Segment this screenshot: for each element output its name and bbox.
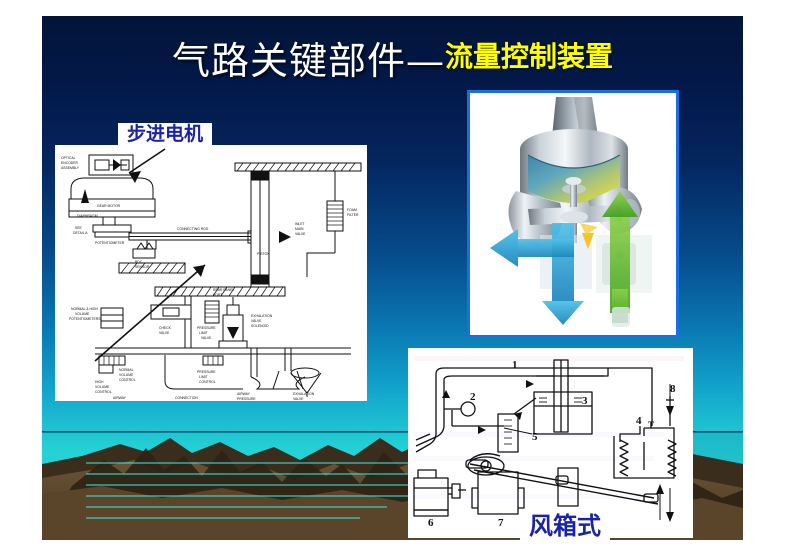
pump-render-svg — [470, 93, 676, 335]
svg-text:SEE: SEE — [75, 226, 83, 230]
bellows-schematic-svg: 1 2 3 4 5 6 7 8 T — [408, 348, 693, 538]
svg-text:CONNECTION: CONNECTION — [175, 396, 198, 400]
svg-text:VOLUME: VOLUME — [95, 385, 110, 389]
svg-text:SOLENOID: SOLENOID — [251, 324, 269, 328]
svg-text:6: 6 — [428, 517, 434, 529]
presentation-slide: 气路关键部件—流量控制装置 — [42, 16, 743, 540]
bellows-schematic-image[interactable]: 1 2 3 4 5 6 7 8 T — [408, 348, 693, 538]
svg-text:CONTROL: CONTROL — [199, 380, 216, 384]
svg-text:HIGH: HIGH — [95, 380, 104, 384]
svg-text:EXHALATION: EXHALATION — [293, 392, 315, 396]
svg-text:VOLUME: VOLUME — [119, 373, 134, 377]
svg-text:DIAPHRAGM: DIAPHRAGM — [77, 214, 98, 218]
svg-text:POTENTIOMETERS: POTENTIOMETERS — [69, 317, 101, 321]
stepper-schematic-svg: OPTICAL ENCODER ASSEMBLY GEAR MOTOR DIAP… — [55, 145, 367, 401]
title-accent-text: 流量控制装置 — [445, 40, 613, 73]
svg-text:VALVE: VALVE — [159, 331, 170, 335]
svg-text:VALVE: VALVE — [201, 336, 212, 340]
svg-text:FOAM: FOAM — [347, 208, 357, 212]
svg-text:REAR PANEL: REAR PANEL — [213, 288, 234, 292]
svg-text:2: 2 — [470, 391, 476, 403]
svg-text:CONTROL: CONTROL — [95, 390, 112, 394]
svg-text:AIRWAY: AIRWAY — [237, 392, 251, 396]
svg-text:PRESSURE: PRESSURE — [197, 326, 216, 330]
svg-text:VALVE: VALVE — [293, 397, 304, 401]
svg-text:VALVE: VALVE — [251, 319, 262, 323]
svg-text:OPTICAL: OPTICAL — [61, 156, 76, 160]
label-stepper-motor: 步进电机 — [118, 123, 212, 148]
title-main-text: 气路关键部件— — [172, 39, 445, 83]
svg-text:PRESSURE: PRESSURE — [237, 397, 256, 401]
svg-text:VOLUME: VOLUME — [75, 312, 90, 316]
svg-text:ASSEMBLY: ASSEMBLY — [61, 166, 80, 170]
svg-text:CHECK: CHECK — [159, 326, 172, 330]
svg-text:1: 1 — [512, 359, 518, 371]
svg-text:5: 5 — [532, 431, 538, 443]
label-bellows-type: 风箱式 — [520, 512, 610, 540]
svg-text:ENCODER: ENCODER — [61, 161, 79, 165]
pump-cutaway-render-image[interactable] — [467, 90, 679, 338]
svg-text:BDC: BDC — [135, 260, 143, 264]
svg-text:FILTER: FILTER — [347, 213, 359, 217]
svg-text:NORMAL & HIGH: NORMAL & HIGH — [71, 307, 99, 311]
svg-text:VALVE: VALVE — [295, 232, 306, 236]
slide-root: 气路关键部件—流量控制装置 — [0, 0, 787, 556]
svg-text:4: 4 — [636, 415, 642, 427]
svg-text:SENSOR: SENSOR — [135, 265, 150, 269]
svg-text:PRESSURE: PRESSURE — [197, 370, 216, 374]
svg-text:T: T — [648, 420, 654, 430]
svg-text:EXHALATION: EXHALATION — [251, 314, 273, 318]
svg-text:PORT: PORT — [213, 293, 222, 297]
svg-text:AIRWAY: AIRWAY — [113, 396, 127, 400]
svg-text:LIMIT: LIMIT — [199, 375, 208, 379]
svg-text:DETAIL A: DETAIL A — [73, 231, 88, 235]
svg-text:8: 8 — [670, 383, 676, 395]
svg-text:MAIN: MAIN — [295, 227, 304, 231]
svg-text:CONNECTING ROD: CONNECTING ROD — [177, 227, 209, 231]
svg-text:3: 3 — [582, 395, 588, 407]
svg-text:CONTROL: CONTROL — [119, 378, 136, 382]
svg-text:LIMIT: LIMIT — [199, 331, 208, 335]
svg-text:7: 7 — [498, 517, 504, 529]
svg-text:GEAR MOTOR: GEAR MOTOR — [97, 204, 121, 208]
svg-text:INLET: INLET — [295, 222, 305, 226]
stepper-motor-schematic-image[interactable]: OPTICAL ENCODER ASSEMBLY GEAR MOTOR DIAP… — [55, 145, 367, 401]
bottom-outlet-tube — [612, 307, 630, 327]
svg-text:NORMAL: NORMAL — [119, 368, 134, 372]
svg-text:POTENTIOMETER: POTENTIOMETER — [95, 241, 125, 245]
svg-text:PISTON: PISTON — [257, 252, 270, 256]
page-title: 气路关键部件—流量控制装置 — [42, 30, 743, 85]
